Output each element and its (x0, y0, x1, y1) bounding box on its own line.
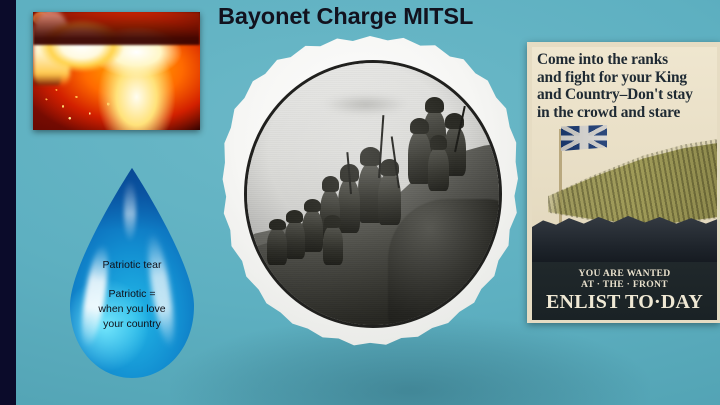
union-jack-flag-icon (561, 125, 607, 151)
poster-headline-line-4: in the crowd and stare (537, 104, 717, 122)
wwi-trench-soldiers-photo (222, 36, 518, 346)
poster-wanted-line-1: YOU ARE WANTED (532, 268, 717, 279)
water-drop-text-block: Patriotic tear Patriotic = when you love… (76, 258, 188, 332)
presentation-slide: Bayonet Charge MITSL Patriotic tear Patr… (0, 0, 720, 405)
patriotic-definition-line-3: your country (76, 317, 188, 332)
poster-paper: Come into the ranks and fight for your K… (532, 47, 717, 320)
poster-headline: Come into the ranks and fight for your K… (537, 51, 717, 121)
poster-caption-banner: YOU ARE WANTED AT · THE · FRONT ENLIST T… (532, 262, 717, 320)
water-drop-tip-highlight (124, 180, 136, 242)
patriotic-definition-line-2: when you love (76, 302, 188, 317)
poster-wanted-caption: YOU ARE WANTED AT · THE · FRONT (532, 268, 717, 290)
wwi-recruitment-poster: Come into the ranks and fight for your K… (527, 42, 720, 323)
furnace-sparks (33, 12, 200, 130)
poster-headline-line-2: and fight for your King (537, 69, 717, 87)
poster-enlist-call-to-action: ENLIST TO·DAY (532, 290, 717, 314)
page-title: Bayonet Charge MITSL (218, 2, 548, 30)
poster-wanted-line-2: AT · THE · FRONT (532, 279, 717, 290)
poster-headline-line-1: Come into the ranks (537, 51, 717, 69)
poster-headline-line-3: and Country–Don't stay (537, 86, 717, 104)
poster-marching-soldiers-detail (548, 139, 717, 231)
patriotic-definition-line-1: Patriotic = (76, 287, 188, 302)
blue-water-drop-graphic: Patriotic tear Patriotic = when you love… (66, 166, 198, 381)
photo-vignette (247, 63, 499, 325)
circular-photo-border (244, 60, 502, 328)
patriotic-tear-label: Patriotic tear (76, 258, 188, 273)
slide-left-accent-band (0, 0, 16, 405)
molten-furnace-explosion-photo (33, 12, 200, 130)
